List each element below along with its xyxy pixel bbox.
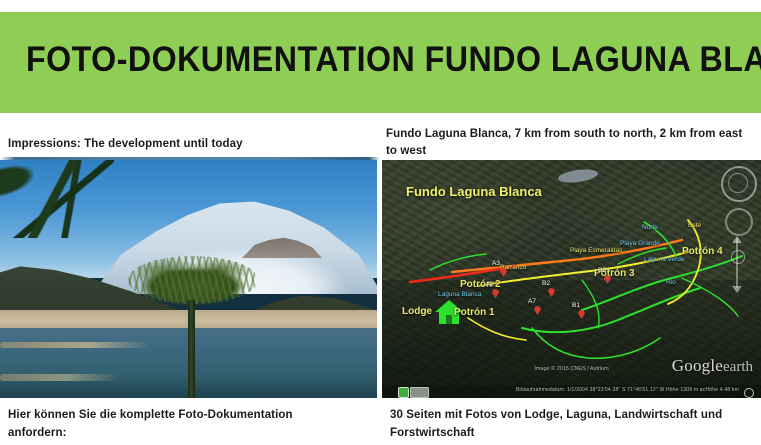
compass-icon[interactable] <box>721 166 757 202</box>
map-point-label-a3: A3 <box>492 260 500 267</box>
pan-control-icon[interactable] <box>725 208 753 236</box>
google-earth-logo: Googleearth <box>672 356 753 376</box>
landscape-photo <box>0 160 377 398</box>
map-navigation-controls[interactable] <box>719 164 755 294</box>
map-point-label-b3: B3 <box>598 267 606 274</box>
map-area-title: Fundo Laguna Blanca <box>406 184 542 199</box>
earth-wordmark: earth <box>723 359 753 375</box>
title-banner: FOTO-DOKUMENTATION FUNDO LAGUNA BLANCA <box>0 12 761 113</box>
zoom-out-arrow-icon[interactable] <box>732 286 742 293</box>
history-button[interactable] <box>410 387 429 398</box>
map-label-laguna-blanca: Laguna Blanca <box>438 291 481 298</box>
map-label-laguna-verde: Laguna Verde <box>644 256 684 263</box>
right-column: Fundo Laguna Blanca, 7 km from south to … <box>382 118 761 445</box>
map-label-rio: Rio <box>666 279 676 286</box>
google-earth-map[interactable]: Fundo Laguna Blanca Lodge Potrón 1 Potró… <box>382 160 761 398</box>
map-point-label-a7: A7 <box>528 298 536 305</box>
tree-trunk <box>188 300 195 398</box>
map-point-label-a2: A2 <box>486 281 494 288</box>
map-label-potron-4: Potrón 4 <box>682 246 723 257</box>
slide-page: FOTO-DOKUMENTATION FUNDO LAGUNA BLANCA I… <box>0 0 761 445</box>
map-status-text: Bildaufnahmedatum: 1/1/2004 38°23'04.38"… <box>516 387 739 393</box>
araucaria-tree <box>118 248 268 398</box>
map-status-bar: Bildaufnahmedatum: 1/1/2004 38°23'04.38"… <box>382 385 761 398</box>
left-column: Impressions: The development until today… <box>0 118 380 445</box>
map-label-norte: Norte <box>642 224 658 231</box>
map-point-label-b1: B1 <box>572 302 580 309</box>
map-point-label-b2: B2 <box>542 280 550 287</box>
map-label-playa-esmeraldas: Playa Esmeraldas <box>570 247 622 254</box>
map-label-playa-grande: Playa Grande <box>620 240 660 247</box>
google-wordmark: Google <box>672 356 723 375</box>
araucaria-branch <box>0 160 114 238</box>
status-indicator-icon <box>744 388 754 398</box>
page-title: FOTO-DOKUMENTATION FUNDO LAGUNA BLANCA <box>26 38 761 82</box>
map-image-credit: Image © 2015 CNES / Astrium <box>534 366 608 372</box>
left-caption: Hier können Sie die komplette Foto-Dokum… <box>8 406 338 442</box>
left-section-heading: Impressions: The development until today <box>8 136 358 153</box>
map-label-lodge: Lodge <box>402 306 432 317</box>
sandbar <box>0 374 120 381</box>
right-caption: 30 Seiten mit Fotos von Lodge, Laguna, L… <box>390 406 740 442</box>
map-label-este: Este <box>688 222 701 229</box>
map-label-potron-1: Potrón 1 <box>454 307 495 318</box>
zoom-slider-handle[interactable] <box>731 250 745 264</box>
right-section-heading: Fundo Laguna Blanca, 7 km from south to … <box>386 126 746 160</box>
map-label-potron-2: Potrón 2 <box>460 279 501 290</box>
lodge-door <box>446 315 452 324</box>
layers-icon[interactable] <box>398 387 409 398</box>
